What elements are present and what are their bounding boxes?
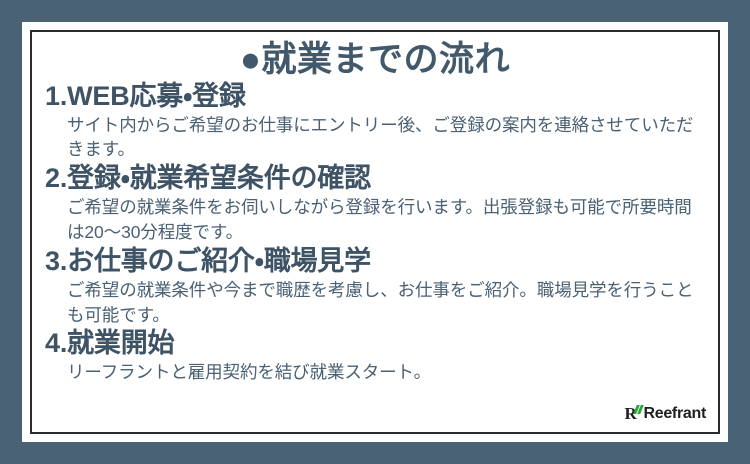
steps-list: 1.WEB応募・登録 サイト内からご希望のお仕事にエントリー後、ご登録の案内を連… bbox=[42, 81, 708, 385]
step-4-body: リーフラントと雇用契約を結び就業スタート。 bbox=[42, 360, 708, 385]
step-4-heading: 4.就業開始 bbox=[42, 328, 708, 360]
slide-content: ●就業までの流れ 1.WEB応募・登録 サイト内からご希望のお仕事にエントリー後… bbox=[32, 32, 718, 432]
slide-frame: ●就業までの流れ 1.WEB応募・登録 サイト内からご希望のお仕事にエントリー後… bbox=[30, 30, 720, 434]
step-2-heading: 2.登録・就業希望条件の確認 bbox=[42, 163, 708, 195]
step-3-heading: 3.お仕事のご紹介・職場見学 bbox=[42, 246, 708, 278]
step-3-body: ご希望の就業条件や今まで職歴を考慮し、お仕事をご紹介。職場見学を行うことも可能で… bbox=[42, 278, 708, 328]
slide-card: ●就業までの流れ 1.WEB応募・登録 サイト内からご希望のお仕事にエントリー後… bbox=[22, 22, 728, 442]
list-item: 3.お仕事のご紹介・職場見学 ご希望の就業条件や今まで職歴を考慮し、お仕事をご紹… bbox=[42, 246, 708, 328]
step-2-body: ご希望の就業条件をお伺いしながら登録を行います。出張登録も可能で所要時間は20〜… bbox=[42, 195, 708, 245]
company-logo: R Reefrant bbox=[624, 404, 706, 424]
step-1-heading: 1.WEB応募・登録 bbox=[42, 81, 708, 113]
list-item: 4.就業開始 リーフラントと雇用契約を結び就業スタート。 bbox=[42, 328, 708, 385]
list-item: 2.登録・就業希望条件の確認 ご希望の就業条件をお伺いしながら登録を行います。出… bbox=[42, 163, 708, 245]
logo-wordmark: Reefrant bbox=[643, 405, 706, 423]
list-item: 1.WEB応募・登録 サイト内からご希望のお仕事にエントリー後、ご登録の案内を連… bbox=[42, 81, 708, 163]
step-1-body: サイト内からご希望のお仕事にエントリー後、ご登録の案内を連絡させていただきます。 bbox=[42, 113, 708, 163]
page-title: ●就業までの流れ bbox=[42, 42, 708, 79]
reefrant-r-icon: R bbox=[624, 405, 641, 423]
